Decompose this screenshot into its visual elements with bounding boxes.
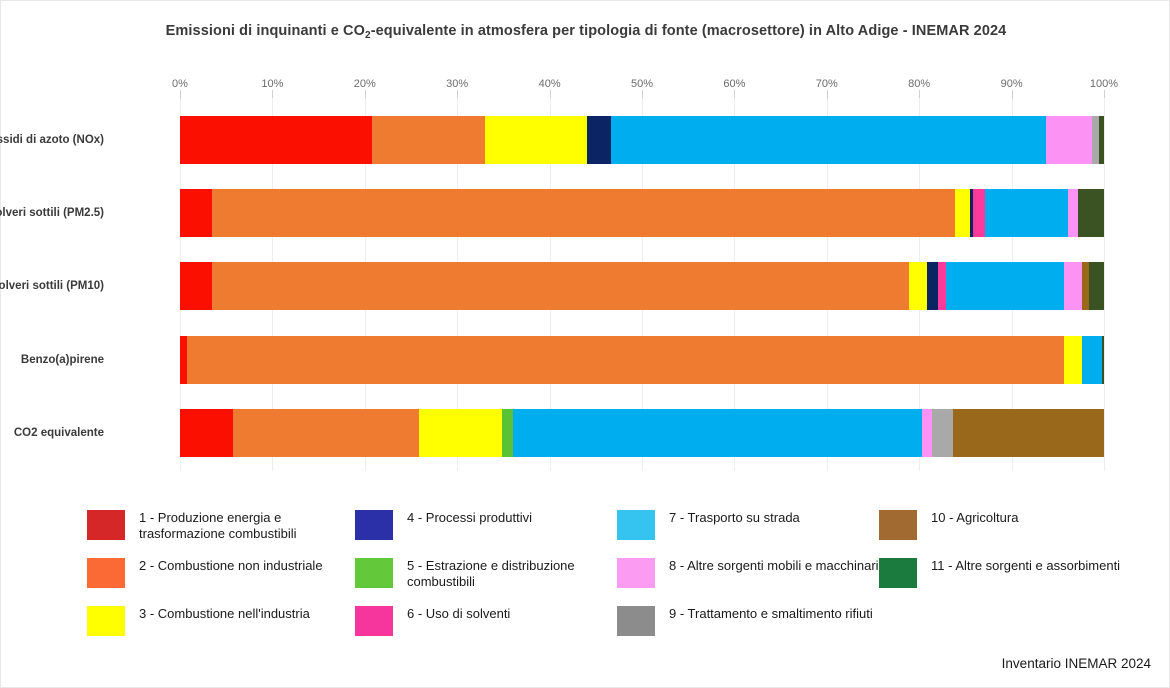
- x-axis-tick-label: 70%: [816, 78, 838, 90]
- legend-item-label: 6 - Uso di solventi: [407, 605, 510, 622]
- legend-item[interactable]: 6 - Uso di solventi: [355, 605, 617, 653]
- x-axis-tick-mark: [827, 90, 828, 98]
- chart-bar-row: Ossidi di azoto (NOx): [180, 116, 1104, 164]
- bar-segment[interactable]: [1068, 189, 1078, 237]
- legend-color-swatch: [87, 510, 125, 540]
- gridline: [1104, 98, 1105, 471]
- x-axis-tick-label: 20%: [354, 78, 376, 90]
- legend-item-label: 3 - Combustione nell'industria: [139, 605, 310, 622]
- x-axis-tick-mark: [734, 90, 735, 98]
- bar-segment[interactable]: [180, 189, 212, 237]
- bar-segment[interactable]: [985, 189, 1068, 237]
- legend-color-swatch: [617, 510, 655, 540]
- legend-item-label: 9 - Trattamento e smaltimento rifiuti: [669, 605, 873, 622]
- x-axis-tick-label: 10%: [261, 78, 283, 90]
- x-axis-tick-mark: [642, 90, 643, 98]
- legend-item-label: 7 - Trasporto su strada: [669, 509, 800, 526]
- chart-bar-row: Benzo(a)pirene: [180, 336, 1104, 384]
- chart-title-subscript: 2: [365, 30, 371, 41]
- legend-color-swatch: [879, 510, 917, 540]
- legend-column: 7 - Trasporto su strada8 - Altre sorgent…: [617, 509, 879, 653]
- footer-note: Inventario INEMAR 2024: [1002, 656, 1151, 671]
- x-axis-tick-label: 30%: [446, 78, 468, 90]
- chart-bar-row: Polveri sottili (PM2.5): [180, 189, 1104, 237]
- x-axis-tick-mark: [1012, 90, 1013, 98]
- bar-segment[interactable]: [938, 262, 946, 310]
- legend-item[interactable]: 5 - Estrazione e distribuzione combustib…: [355, 557, 617, 605]
- y-axis-category-label: CO2 equivalente: [0, 409, 104, 457]
- bar-segment[interactable]: [955, 189, 970, 237]
- legend-item[interactable]: 8 - Altre sorgenti mobili e macchinari: [617, 557, 879, 605]
- x-axis-tick-mark: [457, 90, 458, 98]
- x-axis-tick-label: 90%: [1001, 78, 1023, 90]
- bar-segment[interactable]: [1064, 262, 1082, 310]
- bar-segment[interactable]: [1092, 116, 1099, 164]
- bar-segment[interactable]: [180, 409, 233, 457]
- legend-color-swatch: [87, 606, 125, 636]
- chart-title: Emissioni di inquinanti e CO2-equivalent…: [1, 23, 1170, 39]
- bar-segment[interactable]: [927, 262, 938, 310]
- bar-segment[interactable]: [233, 409, 420, 457]
- legend-item-label: 1 - Produzione energia e trasformazione …: [139, 509, 355, 542]
- bar-segment[interactable]: [1082, 336, 1102, 384]
- bar-segment[interactable]: [932, 409, 953, 457]
- legend-color-swatch: [879, 558, 917, 588]
- chart-title-part2: -equivalente in atmosfera per tipologia …: [371, 23, 1007, 39]
- bar-segment[interactable]: [212, 189, 955, 237]
- legend-item-label: 5 - Estrazione e distribuzione combustib…: [407, 557, 617, 590]
- x-axis-tick-mark: [272, 90, 273, 98]
- legend-item-label: 10 - Agricoltura: [931, 509, 1018, 526]
- x-axis-tick-mark: [1104, 90, 1105, 98]
- stacked-bar[interactable]: [180, 189, 1104, 237]
- bar-segment[interactable]: [587, 116, 611, 164]
- legend-item[interactable]: 9 - Trattamento e smaltimento rifiuti: [617, 605, 879, 653]
- chart-bar-row: Polveri sottili (PM10): [180, 262, 1104, 310]
- bar-segment[interactable]: [1082, 262, 1089, 310]
- stacked-bar[interactable]: [180, 262, 1104, 310]
- x-axis-tick-mark: [365, 90, 366, 98]
- bar-segment[interactable]: [1102, 336, 1104, 384]
- legend-item-label: 2 - Combustione non industriale: [139, 557, 323, 574]
- bar-segment[interactable]: [1046, 116, 1092, 164]
- legend-item[interactable]: 4 - Processi produttivi: [355, 509, 617, 557]
- legend-color-swatch: [617, 558, 655, 588]
- legend-item-label: 11 - Altre sorgenti e assorbimenti: [931, 557, 1120, 574]
- plot-area: 0%10%20%30%40%50%60%70%80%90%100%Ossidi …: [180, 98, 1104, 471]
- bar-segment[interactable]: [513, 409, 922, 457]
- legend-item[interactable]: 3 - Combustione nell'industria: [87, 605, 355, 653]
- legend-color-swatch: [617, 606, 655, 636]
- y-axis-category-label: Polveri sottili (PM10): [0, 262, 104, 310]
- x-axis-tick-label: 0%: [172, 78, 188, 90]
- bar-segment[interactable]: [909, 262, 927, 310]
- bar-segment[interactable]: [946, 262, 1064, 310]
- bar-segment[interactable]: [180, 336, 187, 384]
- legend-color-swatch: [87, 558, 125, 588]
- legend-color-swatch: [355, 558, 393, 588]
- x-axis-tick-mark: [550, 90, 551, 98]
- x-axis-tick-mark: [180, 90, 181, 98]
- y-axis-category-label: Benzo(a)pirene: [0, 336, 104, 384]
- legend-color-swatch: [355, 510, 393, 540]
- x-axis-tick-label: 50%: [631, 78, 653, 90]
- bar-segment[interactable]: [502, 409, 512, 457]
- bar-segment[interactable]: [953, 409, 1104, 457]
- bar-segment[interactable]: [372, 116, 485, 164]
- bar-segment[interactable]: [180, 262, 212, 310]
- legend-column: 4 - Processi produttivi5 - Estrazione e …: [355, 509, 617, 653]
- bar-segment[interactable]: [180, 116, 372, 164]
- y-axis-category-label: Ossidi di azoto (NOx): [0, 116, 104, 164]
- bar-segment[interactable]: [1089, 262, 1104, 310]
- legend-item[interactable]: 2 - Combustione non industriale: [87, 557, 355, 605]
- legend-column: 10 - Agricoltura11 - Altre sorgenti e as…: [879, 509, 1129, 653]
- chart-bar-row: CO2 equivalente: [180, 409, 1104, 457]
- x-axis-tick-label: 40%: [539, 78, 561, 90]
- stacked-bar[interactable]: [180, 336, 1104, 384]
- bar-segment[interactable]: [1078, 189, 1104, 237]
- stacked-bar[interactable]: [180, 116, 1104, 164]
- stacked-bar[interactable]: [180, 409, 1104, 457]
- chart-page: Emissioni di inquinanti e CO2-equivalent…: [0, 0, 1170, 688]
- bar-segment[interactable]: [611, 116, 1045, 164]
- bar-segment[interactable]: [1064, 336, 1082, 384]
- bar-segment[interactable]: [973, 189, 985, 237]
- chart-legend: 1 - Produzione energia e trasformazione …: [87, 509, 1157, 653]
- bar-segment[interactable]: [485, 116, 588, 164]
- x-axis-tick-mark: [919, 90, 920, 98]
- legend-item[interactable]: 7 - Trasporto su strada: [617, 509, 879, 557]
- x-axis-tick-label: 80%: [908, 78, 930, 90]
- bar-segment[interactable]: [922, 409, 932, 457]
- x-axis-tick-label: 100%: [1090, 78, 1118, 90]
- bar-segment[interactable]: [212, 262, 909, 310]
- bar-segment[interactable]: [1099, 116, 1104, 164]
- legend-item-label: 4 - Processi produttivi: [407, 509, 532, 526]
- legend-item-label: 8 - Altre sorgenti mobili e macchinari: [669, 557, 879, 574]
- chart-title-part1: Emissioni di inquinanti e CO: [166, 23, 365, 39]
- legend-item[interactable]: 11 - Altre sorgenti e assorbimenti: [879, 557, 1129, 605]
- legend-item[interactable]: 1 - Produzione energia e trasformazione …: [87, 509, 355, 557]
- legend-color-swatch: [355, 606, 393, 636]
- bar-segment[interactable]: [419, 409, 502, 457]
- legend-column: 1 - Produzione energia e trasformazione …: [87, 509, 355, 653]
- y-axis-category-label: Polveri sottili (PM2.5): [0, 189, 104, 237]
- bar-segment[interactable]: [187, 336, 1064, 384]
- legend-item[interactable]: 10 - Agricoltura: [879, 509, 1129, 557]
- x-axis-tick-label: 60%: [723, 78, 745, 90]
